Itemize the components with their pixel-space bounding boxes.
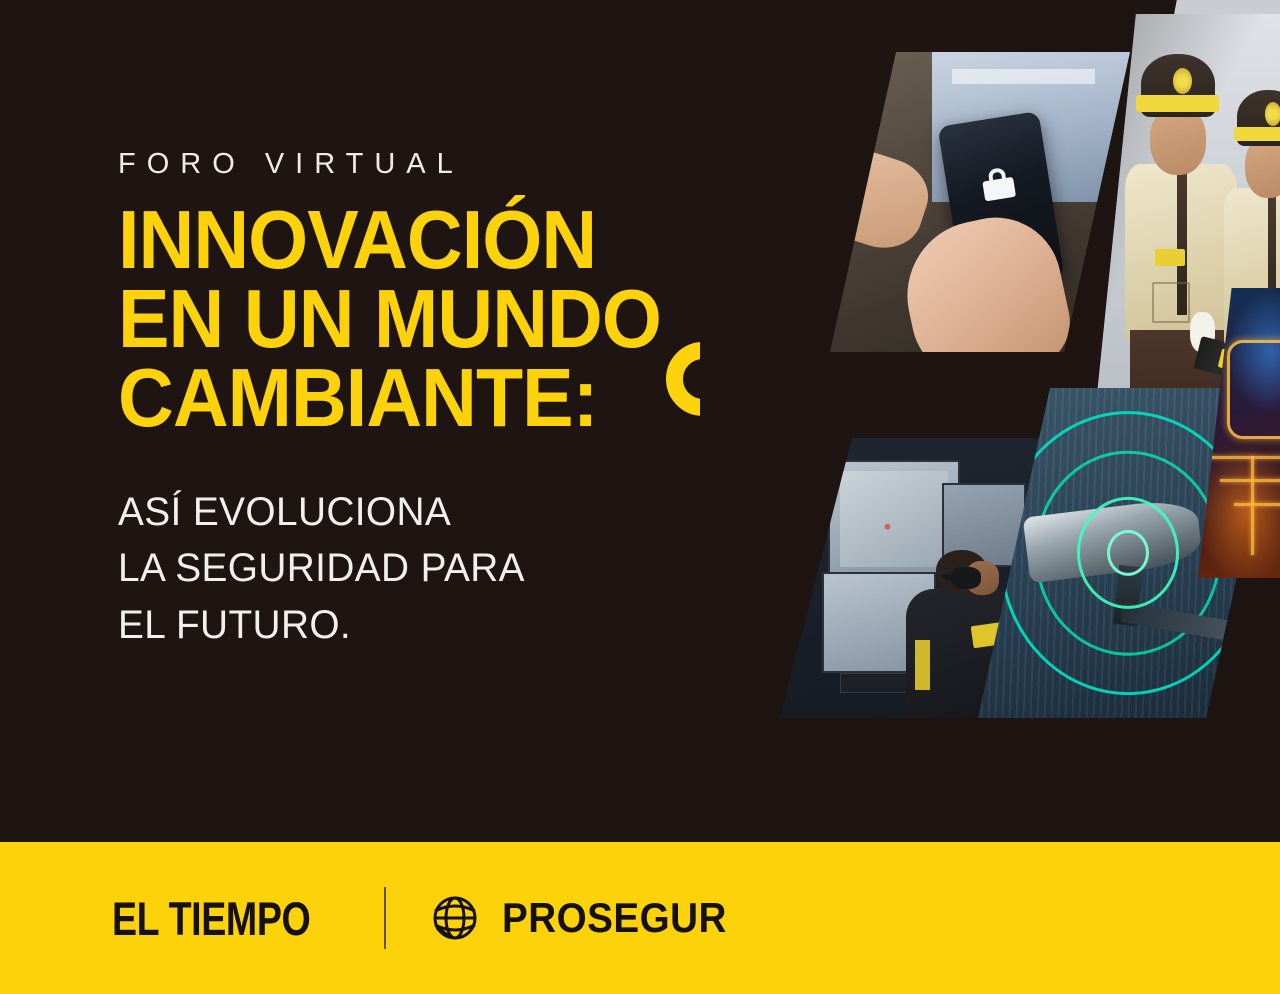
scan-ring-core (1107, 530, 1149, 576)
guard-figure-front (1125, 54, 1237, 414)
page-subtitle: ASÍ EVOLUCIONA LA SEGURIDAD PARA EL FUTU… (118, 484, 797, 654)
guard-shirt-pocket (1152, 282, 1190, 322)
headline-line-3: CAMBIANTE: (118, 359, 769, 438)
footer-band: EL TIEMPO PROSEGUR (0, 842, 1280, 994)
padlock-icon (981, 166, 1016, 201)
prosegur-wordmark: PROSEGUR (502, 894, 727, 942)
logo-divider (384, 887, 386, 949)
circuit-trace (1220, 479, 1280, 482)
headline-line-2: EN UN MUNDO (118, 280, 769, 359)
guard-cap-badge (1173, 68, 1192, 94)
hero-text-block: FORO VIRTUAL INNOVACIÓN EN UN MUNDO CAMB… (118, 150, 818, 654)
guard-cap (1141, 54, 1215, 117)
hero-stage: FORO VIRTUAL INNOVACIÓN EN UN MUNDO CAMB… (0, 0, 1280, 842)
event-type-label: FORO VIRTUAL (118, 150, 818, 179)
subhead-line-2: LA SEGURIDAD PARA (118, 540, 797, 597)
circuit-pad (1227, 340, 1280, 439)
page-title: INNOVACIÓN EN UN MUNDO CAMBIANTE: (118, 201, 769, 438)
circuit-trace (1251, 456, 1254, 555)
guard-cap (1237, 90, 1280, 146)
globe-grid-icon (430, 893, 480, 943)
footer-logo-row: EL TIEMPO PROSEGUR (112, 887, 746, 949)
guard-cap-badge (1265, 102, 1280, 125)
circuit-trace (1210, 456, 1280, 459)
circuit-trace (1234, 503, 1280, 506)
operator-jacket-stripe (915, 640, 930, 690)
el-tiempo-logo: EL TIEMPO (112, 891, 310, 946)
promotional-banner: FORO VIRTUAL INNOVACIÓN EN UN MUNDO CAMB… (0, 0, 1280, 994)
guard-name-tag (1155, 249, 1185, 266)
headset-icon (951, 567, 981, 589)
subhead-line-1: ASÍ EVOLUCIONA (118, 484, 797, 541)
subhead-line-3: EL FUTURO. (118, 597, 797, 654)
headline-line-1: INNOVACIÓN (118, 201, 769, 280)
padlock-body (982, 177, 1015, 201)
prosegur-logo: PROSEGUR (430, 893, 746, 943)
